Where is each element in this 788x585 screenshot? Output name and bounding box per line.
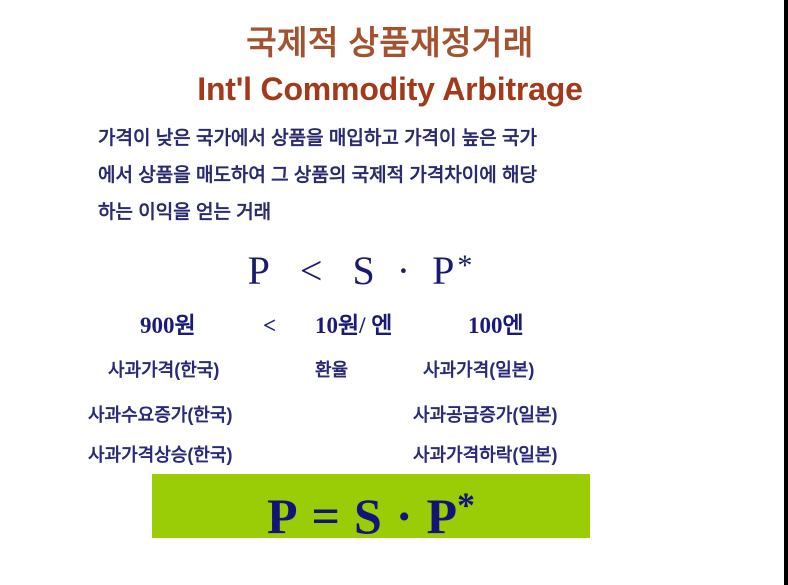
value-operator: < (263, 310, 276, 342)
formula-dot-operator: · (397, 248, 410, 293)
value-exchange-rate: 10원/ 엔 (315, 310, 392, 342)
label-apple-price-japan: 사과가격(일본) (423, 355, 534, 385)
label-apple-price-korea: 사과가격(한국) (108, 355, 219, 385)
label-price-fall-japan: 사과가격하락(일본) (413, 440, 557, 470)
equality-star-superscript: * (457, 485, 475, 525)
label-row-prices: 사과가격(한국) 환율 사과가격(일본) (0, 355, 720, 385)
equality-rate-symbol: S (354, 488, 382, 544)
formula-rhs-symbol: P (432, 248, 454, 293)
value-japan-price: 100엔 (468, 310, 524, 342)
formula-rate-symbol: S (352, 248, 374, 293)
slide-title-english: Int'l Commodity Arbitrage (0, 73, 780, 107)
label-demand-increase-korea: 사과수요증가(한국) (88, 400, 232, 430)
definition-line-1: 가격이 낮은 국가에서 상품을 매입하고 가격이 높은 국가 (98, 120, 698, 157)
right-edge-bar (784, 0, 788, 585)
formula-operator: < (300, 248, 323, 293)
formula-lhs-symbol: P (248, 248, 270, 293)
slide-title-korean: 국제적 상품재정거래 (0, 26, 780, 61)
equality-rhs-symbol: P (427, 488, 458, 544)
definition-line-3: 하는 이익을 얻는 거래 (98, 194, 698, 231)
formula-inequality: P<S·P* (0, 240, 720, 297)
formula-equality-highlight: P=S·P* (152, 474, 590, 538)
equality-dot-operator: · (396, 488, 413, 544)
equality-lhs-symbol: P (267, 488, 298, 544)
label-row-demand-supply: 사과수요증가(한국) 사과공급증가(일본) (0, 400, 720, 430)
label-price-rise-korea: 사과가격상승(한국) (88, 440, 232, 470)
formula-equality-text: P=S·P* (152, 474, 590, 538)
formula-star-superscript: * (457, 249, 472, 282)
definition-paragraph: 가격이 낮은 국가에서 상품을 매입하고 가격이 높은 국가 에서 상품을 매도… (98, 120, 698, 231)
equality-operator: = (312, 488, 341, 544)
value-korea-price: 900원 (140, 310, 196, 342)
label-exchange-rate: 환율 (315, 355, 348, 385)
definition-line-2: 에서 상품을 매도하여 그 상품의 국제적 가격차이에 해당 (98, 157, 698, 194)
slide-canvas: 국제적 상품재정거래 Int'l Commodity Arbitrage 가격이… (0, 0, 788, 585)
label-supply-increase-japan: 사과공급증가(일본) (413, 400, 557, 430)
label-row-price-movement: 사과가격상승(한국) 사과가격하락(일본) (0, 440, 720, 470)
values-row: 900원 < 10원/ 엔 100엔 (0, 310, 720, 342)
